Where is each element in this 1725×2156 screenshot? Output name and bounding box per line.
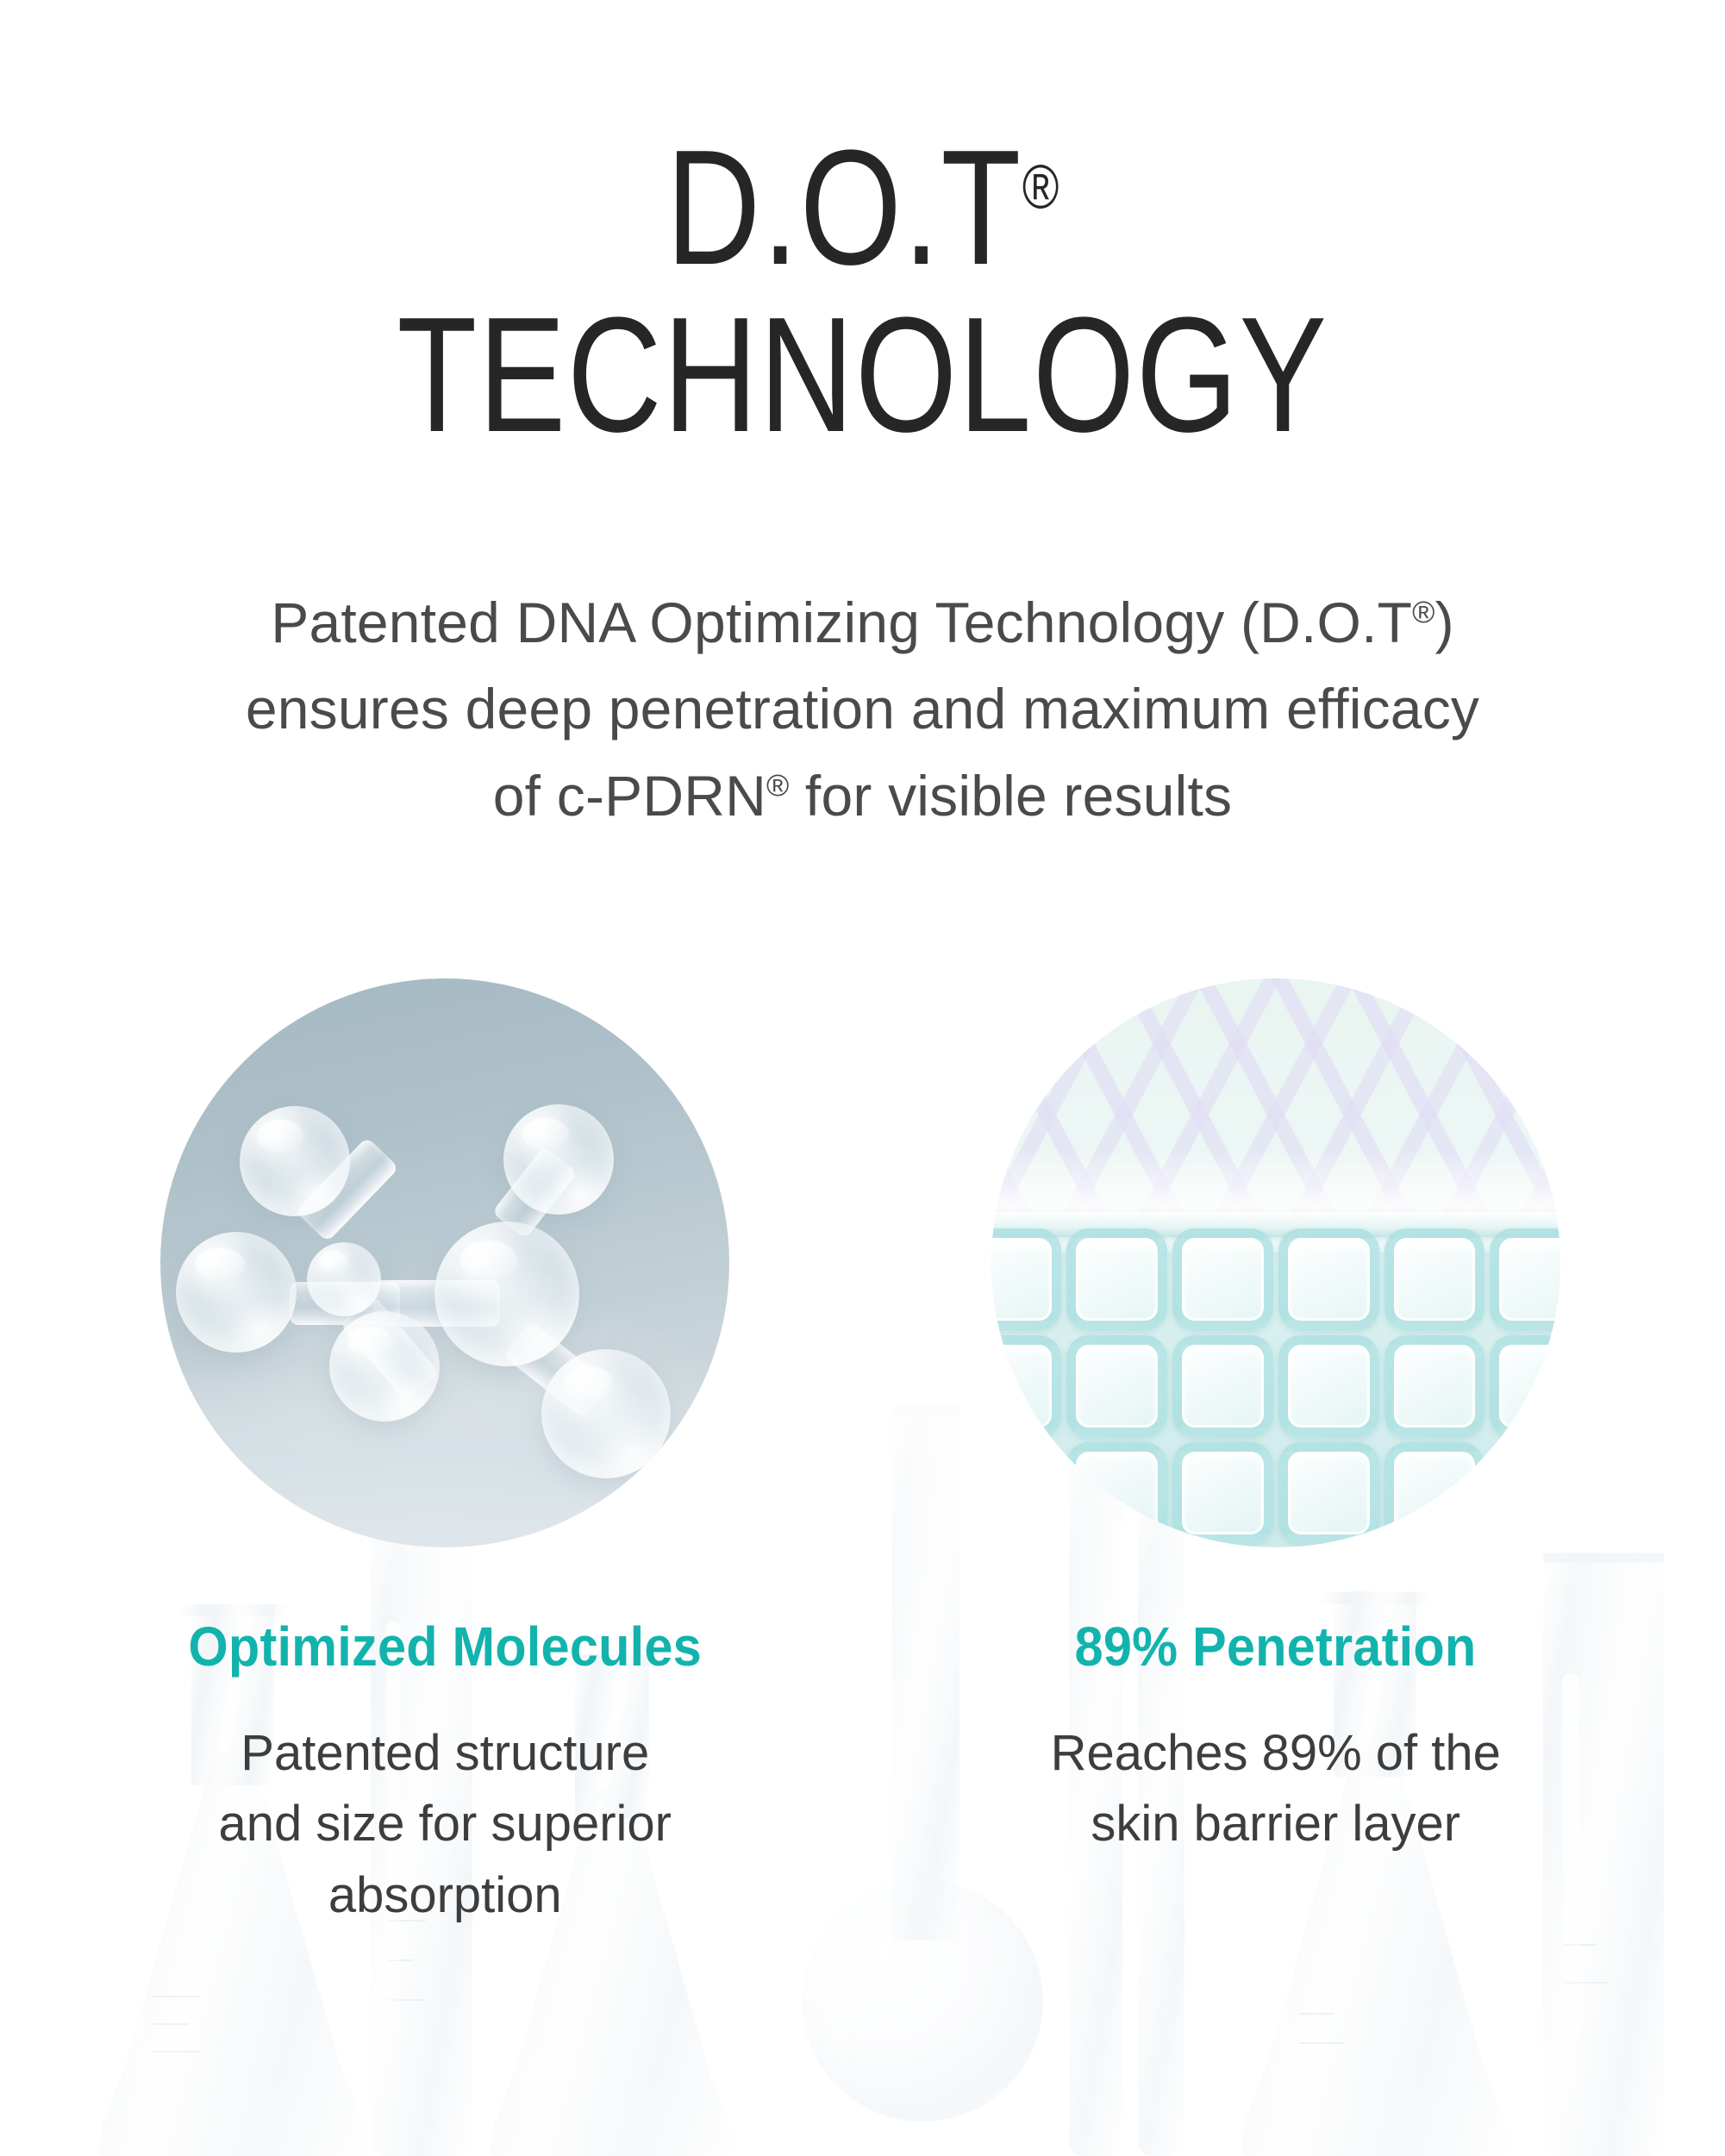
intro-line-1-close: ) xyxy=(1435,591,1454,654)
feature-title-89-percent-penetration: 89% Penetration xyxy=(1075,1615,1477,1678)
title-dot-text: D.O.T xyxy=(666,116,1022,299)
molecule-illustration xyxy=(160,978,729,1547)
feature-desc-line: skin barrier layer xyxy=(1051,1789,1501,1859)
dot-technology-page: D.O.T® TECHNOLOGY Patented DNA Optimizin… xyxy=(0,0,1725,2156)
intro-line-1-text: Patented DNA Optimizing Technology (D.O.… xyxy=(271,591,1412,654)
skin-cell xyxy=(1384,1228,1485,1330)
skin-cell xyxy=(991,1442,1061,1544)
skin-cell xyxy=(1278,1442,1379,1544)
feature-description-optimized-molecules: Patented structure and size for superior… xyxy=(219,1718,672,1931)
skin-cell xyxy=(991,1335,1061,1437)
feature-title-optimized-molecules: Optimized Molecules xyxy=(188,1615,702,1678)
title-line-technology: TECHNOLOGY xyxy=(172,297,1553,453)
intro-line-3-text: of c-PDRN xyxy=(493,764,766,828)
skin-cell xyxy=(1384,1442,1485,1544)
skin-cell xyxy=(1172,1335,1273,1437)
molecule-atom-center-large xyxy=(434,1222,579,1366)
molecule-atom-left xyxy=(176,1232,297,1353)
skin-cell-lattice xyxy=(991,1228,1560,1547)
molecule-atom-top-left xyxy=(240,1106,350,1216)
skin-cell xyxy=(1066,1442,1167,1544)
registered-trademark-icon: ® xyxy=(766,768,789,803)
skin-cell xyxy=(1172,1442,1273,1544)
molecule-atom-bottom xyxy=(329,1311,440,1422)
intro-line-3-tail: for visible results xyxy=(789,764,1232,828)
feature-desc-line: Patented structure xyxy=(219,1718,672,1789)
skin-cell xyxy=(1278,1228,1379,1330)
molecule-atom-center-hub xyxy=(307,1242,381,1316)
feature-columns: Optimized Molecules Patented structure a… xyxy=(0,978,1725,1931)
skin-cell xyxy=(1278,1335,1379,1437)
intro-line-1: Patented DNA Optimizing Technology (D.O.… xyxy=(0,579,1725,666)
title-line-dot: D.O.T® xyxy=(172,129,1553,286)
molecule-atom-bottom-right xyxy=(541,1349,671,1478)
skin-barrier-illustration xyxy=(991,978,1560,1547)
registered-trademark-icon: ® xyxy=(1022,153,1059,222)
skin-cell xyxy=(1066,1228,1167,1330)
skin-cell xyxy=(1490,1228,1559,1330)
skin-cell xyxy=(1384,1335,1485,1437)
intro-paragraph: Patented DNA Optimizing Technology (D.O.… xyxy=(0,579,1725,839)
skin-cell xyxy=(1066,1335,1167,1437)
skin-cell xyxy=(1172,1228,1273,1330)
skin-cell xyxy=(1490,1442,1559,1544)
intro-line-3: of c-PDRN® for visible results xyxy=(0,753,1725,839)
feature-description-89-percent-penetration: Reaches 89% of the skin barrier layer xyxy=(1051,1718,1501,1860)
feature-optimized-molecules: Optimized Molecules Patented structure a… xyxy=(0,978,863,1931)
registered-trademark-icon: ® xyxy=(1412,595,1434,629)
intro-line-2: ensures deep penetration and maximum eff… xyxy=(0,666,1725,752)
molecule-atom-top-right xyxy=(503,1104,614,1215)
feature-89-percent-penetration: 89% Penetration Reaches 89% of the skin … xyxy=(863,978,1725,1931)
feature-desc-line: Reaches 89% of the xyxy=(1051,1718,1501,1789)
feature-desc-line: absorption xyxy=(219,1860,672,1931)
skin-cell xyxy=(991,1228,1061,1330)
skin-cell xyxy=(1490,1335,1559,1437)
page-title: D.O.T® TECHNOLOGY xyxy=(0,129,1725,454)
feature-desc-line: and size for superior xyxy=(219,1789,672,1859)
